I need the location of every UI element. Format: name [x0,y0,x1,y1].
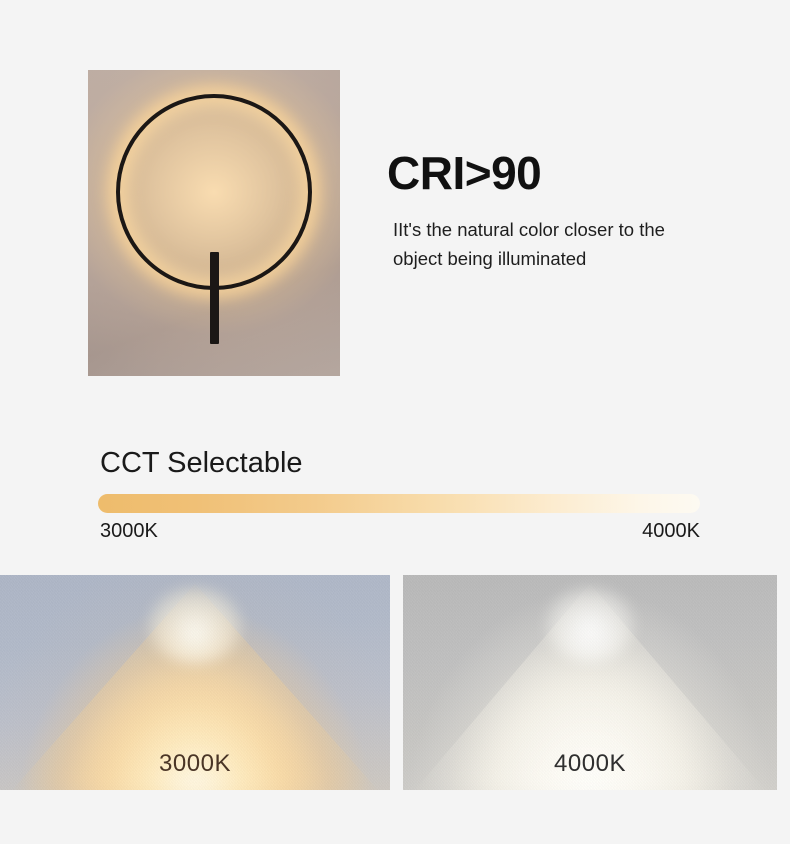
lamp-vertical-bar [210,252,219,344]
cct-comparison-section: 3000K 4000K [0,575,790,790]
cct-gradient-bar [98,494,700,513]
cri-subtitle: IIt's the natural color closer to the ob… [393,216,693,273]
cct-scale-max: 4000K [642,520,700,543]
cri-text-block: CRI>90 IIt's the natural color closer to… [387,150,757,273]
warm-light-sample: 3000K [0,575,390,790]
cri-hero-section: CRI>90 IIt's the natural color closer to… [0,0,790,425]
ring-wall-lamp-photo [88,70,340,376]
cct-heading: CCT Selectable [100,447,303,480]
cct-scale-min: 3000K [100,520,158,543]
neutral-panel-label: 4000K [403,750,777,778]
cct-selectable-section: CCT Selectable 3000K 4000K [0,425,790,575]
neutral-light-sample: 4000K [403,575,777,790]
warm-panel-label: 3000K [0,750,390,778]
cri-title: CRI>90 [387,150,757,196]
product-feature-page: CRI>90 IIt's the natural color closer to… [0,0,790,844]
cct-scale-labels: 3000K 4000K [100,520,700,543]
